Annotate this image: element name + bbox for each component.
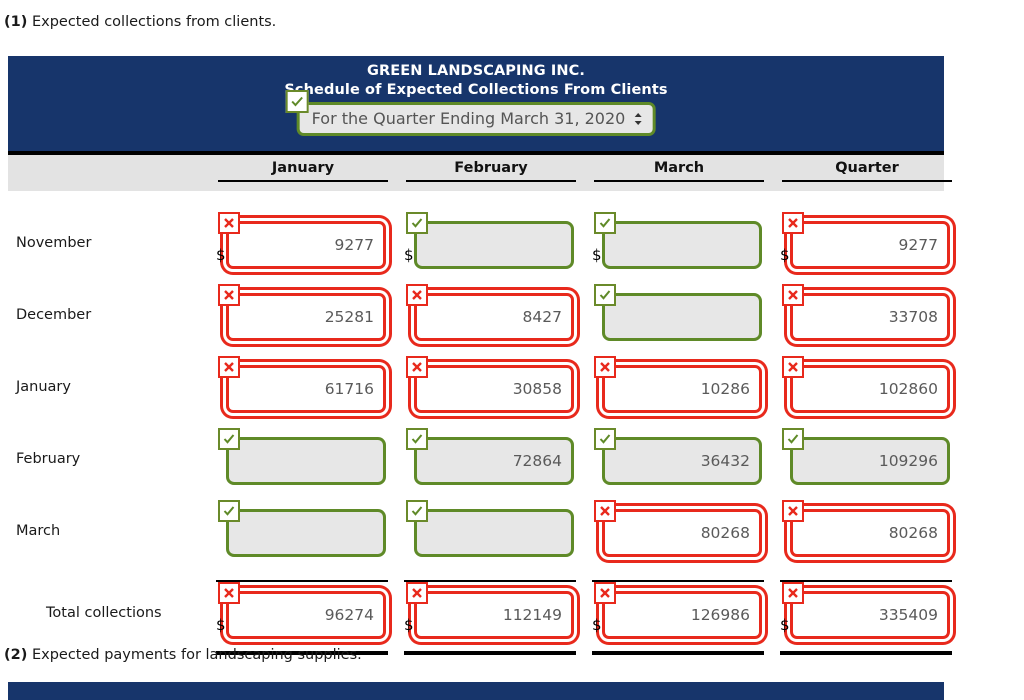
column-header-january: January (218, 160, 388, 186)
currency-symbol: $ (592, 246, 602, 264)
check-icon (406, 428, 428, 450)
x-icon (406, 356, 428, 378)
prompt-2: (2) Expected payments for landscaping su… (4, 647, 362, 663)
row-label: November (16, 235, 91, 251)
column-header-february: February (406, 160, 576, 186)
x-icon (782, 356, 804, 378)
row-label: January (16, 379, 71, 395)
prompt-1-number: (1) (4, 14, 27, 30)
x-icon (782, 212, 804, 234)
collections-schedule: GREEN LANDSCAPING INC. Schedule of Expec… (8, 56, 944, 661)
column-header-row: January February March Quarter (8, 155, 944, 191)
x-icon (218, 356, 240, 378)
company-name: GREEN LANDSCAPING INC. (8, 62, 944, 81)
currency-symbol: $ (592, 616, 602, 634)
amount-cell: 61716 (226, 365, 386, 413)
x-icon (594, 500, 616, 522)
amount-cell: $ (414, 221, 574, 269)
prompt-2-number: (2) (4, 647, 27, 663)
amount-cell: 36432 (602, 437, 762, 485)
check-icon (218, 428, 240, 450)
payments-schedule-title-bar (8, 682, 944, 700)
check-icon (406, 500, 428, 522)
schedule-subtitle: Schedule of Expected Collections From Cl… (8, 81, 944, 100)
x-icon (782, 284, 804, 306)
amount-cell: 96274$ (226, 591, 386, 639)
period-select[interactable]: For the Quarter Ending March 31, 2020 (297, 102, 656, 136)
amount-cell: 25281 (226, 293, 386, 341)
currency-symbol: $ (216, 246, 226, 264)
amount-input[interactable] (414, 509, 574, 557)
amount-cell: 33708 (790, 293, 950, 341)
amount-input[interactable]: 102860 (790, 365, 950, 413)
amount-input[interactable]: 335409$ (790, 591, 950, 639)
amount-input[interactable]: 9277$ (790, 221, 950, 269)
amount-cell: 335409$ (790, 591, 950, 639)
updown-arrows-icon (633, 112, 642, 126)
amount-input[interactable]: 112149$ (414, 591, 574, 639)
row-label: Total collections (46, 605, 162, 621)
x-icon (782, 500, 804, 522)
amount-input[interactable]: 33708 (790, 293, 950, 341)
schedule-title-bar: GREEN LANDSCAPING INC. Schedule of Expec… (8, 56, 944, 155)
x-icon (594, 356, 616, 378)
amount-input[interactable]: 8427 (414, 293, 574, 341)
amount-cell: 80268 (790, 509, 950, 557)
amount-input[interactable]: 72864 (414, 437, 574, 485)
currency-symbol: $ (404, 616, 414, 634)
amount-input[interactable]: $ (602, 221, 762, 269)
amount-cell: 126986$ (602, 591, 762, 639)
amount-cell: 9277$ (790, 221, 950, 269)
x-icon (782, 582, 804, 604)
period-select-value: For the Quarter Ending March 31, 2020 (312, 109, 626, 128)
amount-input[interactable]: 30858 (414, 365, 574, 413)
row-label: March (16, 523, 60, 539)
amount-input[interactable]: 80268 (602, 509, 762, 557)
row-label: December (16, 307, 91, 323)
total-rule-double (780, 651, 952, 655)
check-icon (218, 500, 240, 522)
amount-cell: 102860 (790, 365, 950, 413)
check-icon (594, 212, 616, 234)
total-rule-double (592, 651, 764, 655)
x-icon (594, 582, 616, 604)
currency-symbol: $ (404, 246, 414, 264)
currency-symbol: $ (780, 246, 790, 264)
amount-cell (414, 509, 574, 557)
amount-input[interactable]: 61716 (226, 365, 386, 413)
x-icon (406, 284, 428, 306)
amount-input[interactable]: 36432 (602, 437, 762, 485)
amount-input[interactable]: 25281 (226, 293, 386, 341)
column-header-quarter: Quarter (782, 160, 952, 186)
worksheet-page: (1) Expected collections from clients. G… (0, 0, 1024, 700)
prompt-1: (1) Expected collections from clients. (4, 14, 276, 30)
amount-cell (226, 437, 386, 485)
amount-cell (226, 509, 386, 557)
check-icon (406, 212, 428, 234)
amount-cell: 10286 (602, 365, 762, 413)
x-icon (218, 582, 240, 604)
prompt-1-text: Expected collections from clients. (32, 14, 276, 30)
amount-input[interactable]: 126986$ (602, 591, 762, 639)
total-rule-top (404, 580, 576, 582)
amount-cell: 112149$ (414, 591, 574, 639)
column-header-march: March (594, 160, 764, 186)
amount-cell (602, 293, 762, 341)
amount-cell: 9277$ (226, 221, 386, 269)
total-rule-top (780, 580, 952, 582)
check-icon (594, 428, 616, 450)
prompt-2-text: Expected payments for landscaping suppli… (32, 647, 362, 663)
amount-cell: 80268 (602, 509, 762, 557)
amount-input[interactable]: 96274$ (226, 591, 386, 639)
currency-symbol: $ (780, 616, 790, 634)
amount-input[interactable]: 10286 (602, 365, 762, 413)
amount-input[interactable] (226, 437, 386, 485)
amount-cell: $ (602, 221, 762, 269)
amount-input[interactable]: 109296 (790, 437, 950, 485)
amount-cell: 8427 (414, 293, 574, 341)
schedule-body: November9277$$$9277$December252818427337… (8, 191, 944, 661)
amount-input[interactable]: 80268 (790, 509, 950, 557)
amount-input[interactable]: $ (414, 221, 574, 269)
amount-cell: 30858 (414, 365, 574, 413)
amount-input[interactable]: 9277$ (226, 221, 386, 269)
amount-cell: 72864 (414, 437, 574, 485)
total-rule-top (592, 580, 764, 582)
amount-input[interactable] (602, 293, 762, 341)
amount-cell: 109296 (790, 437, 950, 485)
period-select-wrapper: For the Quarter Ending March 31, 2020 (297, 102, 656, 136)
check-icon (782, 428, 804, 450)
total-rule-top (216, 580, 388, 582)
x-icon (218, 284, 240, 306)
check-icon (286, 90, 309, 113)
amount-input[interactable] (226, 509, 386, 557)
x-icon (218, 212, 240, 234)
check-icon (594, 284, 616, 306)
total-rule-double (404, 651, 576, 655)
row-label: February (16, 451, 80, 467)
currency-symbol: $ (216, 616, 226, 634)
x-icon (406, 582, 428, 604)
